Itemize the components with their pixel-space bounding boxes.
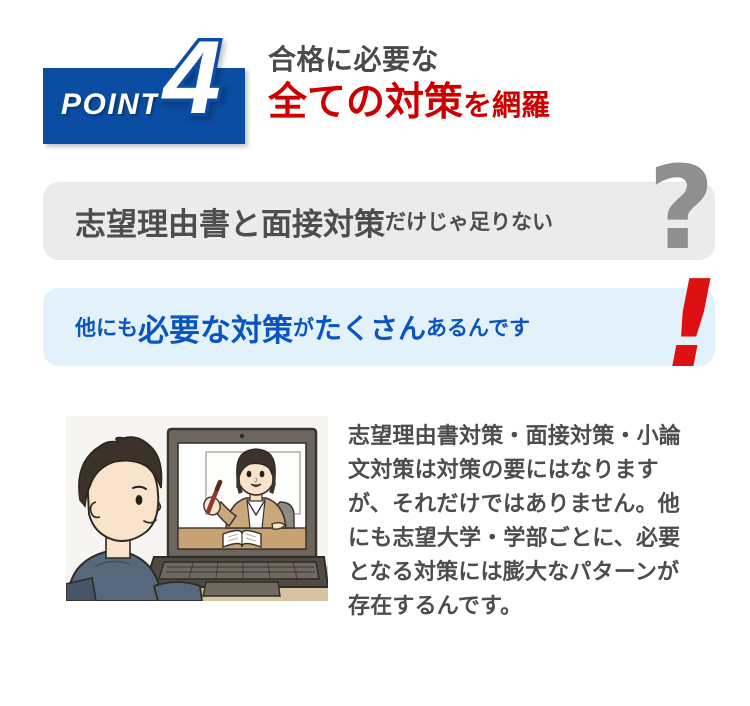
callout-answer-text: 他にも必要な対策がたくさんあるんです [75,288,530,366]
point-badge-number: 4 [163,26,221,130]
question-mark-icon: ? [648,152,715,267]
online-lesson-illustration [66,416,328,601]
callout-answer-part-4: たくさん [314,307,426,347]
headline-line-2: 全ての対策を網羅 [268,82,738,125]
callout-answer-part-1: 他にも [75,312,138,342]
headline-suffix: を網羅 [463,90,550,122]
callout-question-text: 志望理由書と面接対策だけじゃ足りない [75,182,553,260]
callout-answer-part-2: 必要な対策 [138,305,293,350]
headline: 合格に必要な 全ての対策を網羅 [268,44,738,125]
point-badge-label: POINT [61,90,160,120]
callout-question-bar: 志望理由書と面接対策だけじゃ足りない [43,182,715,260]
headline-emphasis: 全ての対策 [268,81,463,124]
callout-question-main: 志望理由書と面接対策 [75,199,385,244]
callout-answer-part-3: が [293,312,314,342]
callout-question-sub: だけじゃ足りない [385,206,553,236]
callout-answer-bar: 他にも必要な対策がたくさんあるんです [43,288,715,366]
exclamation-mark-icon: ! [664,266,719,386]
body-paragraph: 志望理由書対策・面接対策・小論文対策は対策の要にはなりますが、それだけではありま… [348,419,693,624]
callout-answer-part-5: あるんです [426,312,530,342]
headline-line-1: 合格に必要な [268,44,738,76]
header-section: POINT 4 合格に必要な 全ての対策を網羅 [0,0,750,165]
